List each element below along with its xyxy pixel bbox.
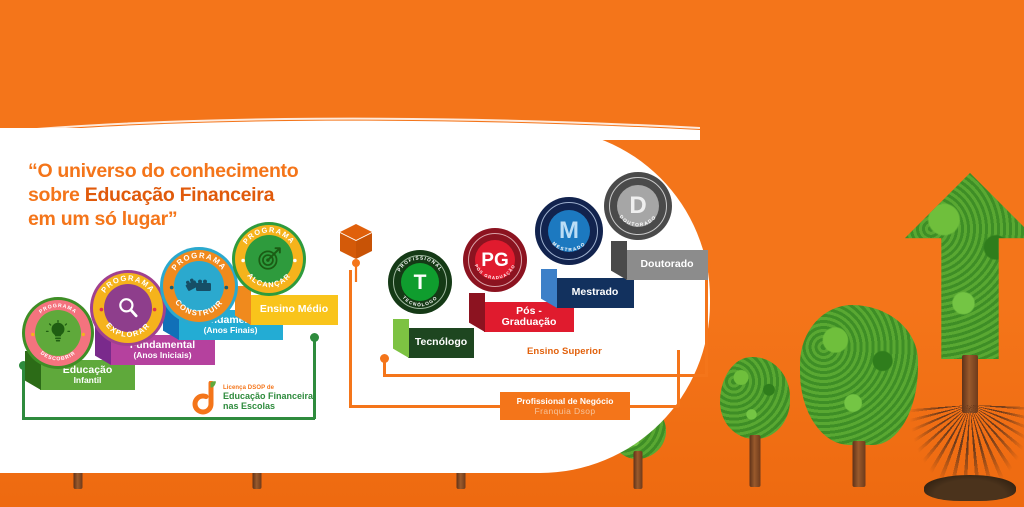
badge-programa-alcancar[interactable]: PROGRAMA ALCANÇAR (232, 222, 306, 296)
badge-bottom-text: MESTRADO (551, 241, 588, 254)
infographic-canvas: “O universo do conhecimento sobre Educaç… (0, 0, 1024, 507)
tree-canopy-arrow (905, 173, 1024, 359)
svg-text:PROFISSIONAL: PROFISSIONAL (397, 256, 444, 273)
ribbon-sublabel: Infantil (63, 376, 113, 385)
dsop-line-big-2: nas Escolas (223, 401, 313, 411)
ribbon-doutorado[interactable]: Doutorado (626, 250, 708, 280)
badge-bottom-text: ALCANÇAR (245, 271, 292, 289)
ribbon-label: Tecnólogo (415, 337, 467, 348)
badge-top-text: PROGRAMA (38, 303, 77, 315)
svg-text:TECNÓLOGO: TECNÓLOGO (401, 295, 440, 308)
svg-text:DOUTORADO: DOUTORADO (618, 214, 659, 228)
badge-pos-graduacao[interactable]: PG PÓS GRADUAÇÃO (463, 228, 527, 292)
negocio-line-1: Profissional de Negócio (517, 396, 614, 406)
svg-text:DESCOBRIR: DESCOBRIR (39, 350, 77, 362)
negocio-line-2: Franquia Dsop (535, 406, 596, 416)
badge-programa-explorar[interactable]: PROGRAMA EXPLORAR (90, 270, 166, 346)
svg-text:MESTRADO: MESTRADO (551, 241, 588, 254)
badge-top-text: PROGRAMA (170, 251, 229, 272)
tree-canopy-head (800, 305, 918, 445)
svg-text:PROGRAMA: PROGRAMA (170, 251, 229, 272)
headline-line-2: sobre Educação Financeira (28, 184, 298, 208)
ensino-superior-label: Ensino Superior (527, 346, 602, 357)
badge-tecnologo[interactable]: T PROFISSIONAL TECNÓLOGO (388, 250, 452, 314)
ribbon-ensino-medio[interactable]: Ensino Médio (250, 295, 338, 325)
badge-arc-text: PÓS GRADUAÇÃO (463, 228, 527, 292)
ribbon-text: Ensino Médio (260, 304, 328, 315)
badge-top-text: PROFISSIONAL (397, 256, 444, 273)
badge-arc-text: PROGRAMA EXPLORAR (90, 270, 166, 346)
badge-arc-text: DOUTORADO (604, 172, 672, 240)
ribbon-label: Ensino Médio (260, 303, 328, 315)
badge-arc-text: MESTRADO (535, 197, 603, 265)
bracket-line-right-vertical (313, 338, 316, 419)
headline-line-2-b: Educação Financeira (85, 184, 274, 206)
ribbon-tecnologo[interactable]: Tecnólogo (408, 328, 474, 358)
ribbon-label: Pós - Graduação (493, 306, 565, 329)
badge-arc-text: PROFISSIONAL TECNÓLOGO (388, 250, 452, 314)
ribbon-mestrado[interactable]: Mestrado (556, 278, 634, 308)
svg-text:PROGRAMA: PROGRAMA (38, 303, 77, 315)
ribbon-label: Mestrado (572, 287, 619, 298)
svg-text:PROGRAMA: PROGRAMA (99, 273, 156, 294)
page-title: “O universo do conhecimento sobre Educaç… (28, 160, 298, 231)
svg-text:CONSTRUIR: CONSTRUIR (173, 298, 225, 318)
badge-bottom-text: CONSTRUIR (173, 298, 225, 318)
badge-top-text: PROGRAMA (99, 273, 156, 294)
dsop-logo-text: Licença DSOP de Educação Financeira nas … (223, 381, 313, 411)
ribbon-sublabel: (Anos Iniciais) (130, 351, 195, 360)
bracket-dot-right (310, 333, 319, 342)
svg-text:PÓS GRADUAÇÃO: PÓS GRADUAÇÃO (474, 263, 517, 280)
bracket-line-left-vertical (22, 366, 25, 419)
badge-bottom-text: DOUTORADO (618, 214, 659, 228)
tree-medium (720, 357, 790, 487)
badge-arc-text: PROGRAMA CONSTRUIR (160, 247, 238, 325)
headline-line-2-a: sobre (28, 184, 85, 206)
dsop-line-big-1: Educação Financeira (223, 391, 313, 401)
soil-mound (924, 475, 1016, 501)
badge-bottom-text: EXPLORAR (104, 321, 152, 339)
badge-bottom-text: PÓS GRADUAÇÃO (474, 263, 517, 280)
svg-text:EXPLORAR: EXPLORAR (104, 321, 152, 339)
badge-mestrado[interactable]: M MESTRADO (535, 197, 603, 265)
svg-text:ALCANÇAR: ALCANÇAR (245, 271, 292, 289)
business-line-right-vertical (677, 350, 680, 407)
badge-bottom-text: DESCOBRIR (39, 350, 77, 362)
ribbon-label: Doutorado (640, 259, 693, 270)
badge-doutorado[interactable]: D DOUTORADO (604, 172, 672, 240)
badge-programa-descobrir[interactable]: PROGRAMA DESCOBRIR (22, 297, 94, 369)
badge-arc-text: PROGRAMA DESCOBRIR (22, 297, 94, 369)
tree-head-shaped (800, 305, 918, 487)
orange-cube-icon (336, 222, 378, 284)
tree-arrow-with-roots (905, 173, 1024, 503)
dsop-logo: Licença DSOP de Educação Financeira nas … (192, 381, 313, 415)
badge-programa-construir[interactable]: PROGRAMA CONSTRUIR (160, 247, 238, 325)
bracket-line-bottom (22, 417, 315, 420)
dsop-d-icon (192, 381, 218, 415)
badge-bottom-text: TECNÓLOGO (401, 295, 440, 308)
profissional-negocio-box[interactable]: Profissional de Negócio Franquia Dsop (500, 392, 630, 420)
badge-top-text: PROGRAMA (241, 225, 297, 246)
ribbon-sublabel: (Anos Finais) (198, 326, 263, 335)
business-line-left-vertical (349, 270, 352, 407)
headline-line-1: “O universo do conhecimento (28, 160, 298, 184)
svg-text:PROGRAMA: PROGRAMA (241, 225, 297, 246)
badge-arc-text: PROGRAMA ALCANÇAR (232, 222, 306, 296)
